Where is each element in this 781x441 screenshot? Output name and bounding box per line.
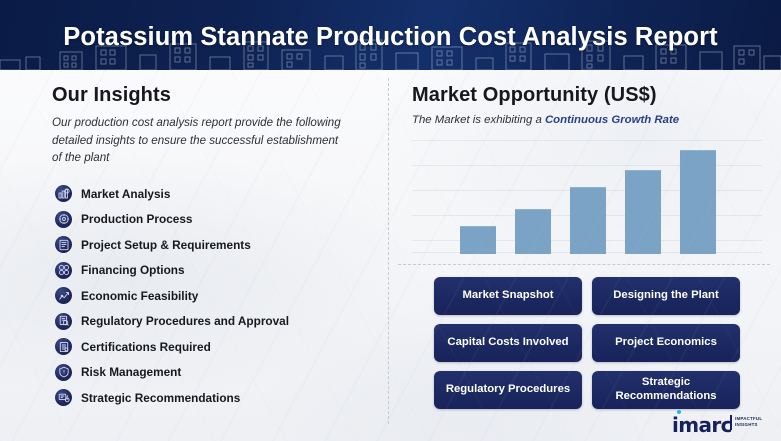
insight-label: Strategic Recommendations	[81, 391, 240, 405]
insight-label: Market Analysis	[81, 187, 170, 201]
logo-tagline-line2: INSIGHTS	[735, 422, 758, 427]
button-strategic-recommendations[interactable]: Strategic Recommendations	[592, 371, 740, 409]
insight-label: Regulatory Procedures and Approval	[81, 314, 289, 328]
insights-title: Our Insights	[52, 84, 382, 107]
button-project-economics[interactable]: Project Economics	[592, 324, 740, 362]
chart-bar	[625, 170, 661, 254]
subtitle-accent: Continuous Growth Rate	[545, 114, 679, 126]
insight-label: Project Setup & Requirements	[81, 238, 251, 252]
economic-feasibility-icon	[55, 287, 72, 304]
insight-item-economic-feasibility[interactable]: Economic Feasibility	[55, 283, 382, 309]
insight-item-risk-management[interactable]: Risk Management	[55, 359, 382, 385]
chart-bar	[515, 209, 551, 254]
logo-divider	[730, 415, 732, 430]
financing-options-icon	[55, 262, 72, 279]
insight-label: Economic Feasibility	[81, 289, 198, 303]
insight-label: Risk Management	[81, 365, 181, 379]
horizontal-divider	[398, 264, 770, 265]
report-sections-grid: Market Snapshot Designing the Plant Capi…	[434, 277, 740, 409]
button-designing-the-plant[interactable]: Designing the Plant	[592, 277, 740, 315]
button-capital-costs-involved[interactable]: Capital Costs Involved	[434, 324, 582, 362]
insight-item-financing-options[interactable]: Financing Options	[55, 257, 382, 283]
insight-label: Financing Options	[81, 263, 185, 277]
chart-bar	[680, 150, 716, 254]
market-opportunity-panel: Market Opportunity (US$) The Market is e…	[412, 84, 762, 126]
insight-item-strategic-recommendations[interactable]: Strategic Recommendations	[55, 385, 382, 411]
regulatory-procedures-icon	[55, 313, 72, 330]
vertical-divider	[388, 78, 389, 424]
imarc-logo[interactable]: imarc IMPACTFUL INSIGHTS	[672, 408, 776, 436]
logo-tagline: IMPACTFUL INSIGHTS	[735, 416, 762, 429]
page-title: Potassium Stannate Production Cost Analy…	[0, 0, 781, 70]
insights-panel: Our Insights Our production cost analysi…	[52, 84, 382, 410]
chart-bar	[570, 187, 606, 254]
insights-subtitle: Our production cost analysis report prov…	[52, 114, 348, 167]
strategic-recommendations-icon	[55, 389, 72, 406]
insight-item-production-process[interactable]: Production Process	[55, 206, 382, 232]
certifications-icon	[55, 338, 72, 355]
insight-item-regulatory-procedures[interactable]: Regulatory Procedures and Approval	[55, 308, 382, 334]
insights-list: Market Analysis Production Process	[55, 181, 382, 411]
button-market-snapshot[interactable]: Market Snapshot	[434, 277, 582, 315]
chart-bar	[460, 226, 496, 254]
insight-label: Certifications Required	[81, 340, 211, 354]
production-process-icon	[55, 211, 72, 228]
risk-management-icon	[55, 364, 72, 381]
project-setup-icon	[55, 236, 72, 253]
chart-bars	[398, 132, 770, 254]
market-opportunity-subtitle: The Market is exhibiting a Continuous Gr…	[412, 114, 762, 126]
button-regulatory-procedures[interactable]: Regulatory Procedures	[434, 371, 582, 409]
insight-item-certifications[interactable]: Certifications Required	[55, 334, 382, 360]
subtitle-prefix: The Market is exhibiting a	[412, 114, 545, 126]
page-header: Potassium Stannate Production Cost Analy…	[0, 0, 781, 70]
insight-item-market-analysis[interactable]: Market Analysis	[55, 181, 382, 207]
market-analysis-icon	[55, 185, 72, 202]
logo-wordmark: imarc	[672, 413, 732, 437]
market-opportunity-chart	[398, 132, 770, 254]
market-opportunity-title: Market Opportunity (US$)	[412, 84, 762, 107]
insight-item-project-setup[interactable]: Project Setup & Requirements	[55, 232, 382, 258]
infographic-page: Potassium Stannate Production Cost Analy…	[0, 0, 781, 441]
insight-label: Production Process	[81, 212, 192, 226]
logo-tagline-line1: IMPACTFUL	[735, 416, 762, 421]
